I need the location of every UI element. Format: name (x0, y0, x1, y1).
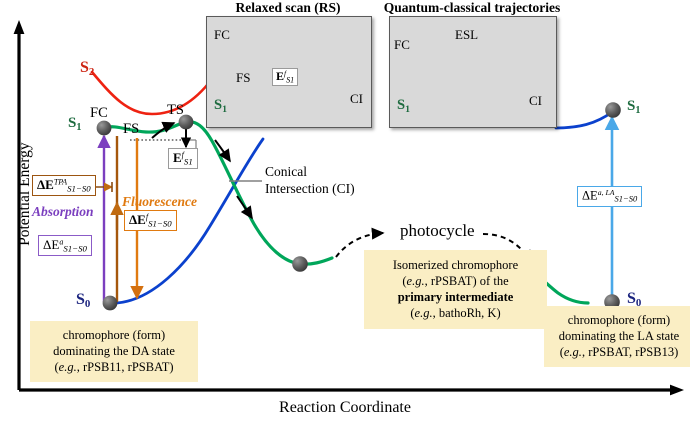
qc-s1-text: S (397, 97, 405, 113)
photocycle-label: photocycle (400, 222, 475, 240)
qc-fc-label: FC (394, 38, 410, 52)
abs-sub: S1−S0 (63, 243, 87, 253)
rs-ets-delta: E (276, 69, 284, 83)
tpa-sup: TPA (54, 178, 67, 187)
s0-curve-right (556, 112, 612, 128)
x-axis-label: Reaction Coordinate (0, 400, 690, 417)
rs-fc-label: FC (214, 28, 230, 42)
conical-intersection-label: Conical Intersection (CI) (265, 164, 355, 198)
fluor-delta: ΔE (129, 212, 146, 227)
s2-label-text: S (80, 59, 89, 76)
s0-right-text: S (627, 290, 636, 307)
da-line-1: chromophore (form) (34, 327, 194, 343)
ci-line1: Conical (265, 164, 355, 181)
pi-line-3: primary intermediate (368, 289, 543, 305)
s1-label-right: S1 (627, 99, 640, 117)
energy-box-fluorescence: ΔEfS1−S0 (124, 210, 177, 231)
la-delta: ΔE (582, 188, 598, 202)
energy-box-la: ΔEa, LAS1−S0 (577, 186, 642, 207)
energy-box-tpa: ΔETPAS1−S0 (32, 175, 96, 196)
rs-fs-label: FS (236, 71, 250, 85)
figure-canvas: Potential Energy Reaction Coordinate S2 … (0, 0, 690, 424)
la-line-2: dominating the LA state (548, 328, 690, 344)
fs-label: FS (123, 122, 139, 137)
ball-s1-right (605, 102, 621, 118)
da-eg: e.g. (59, 360, 77, 374)
fc-label: FC (90, 106, 108, 121)
rs-energy-box-ef-s1: EfS1 (272, 68, 298, 86)
ball-photoproduct (292, 256, 308, 272)
energy-box-absorption: ΔEaS1−S0 (38, 235, 92, 256)
ball-s0-reactant (103, 296, 118, 311)
da-state-box: chromophore (form) dominating the DA sta… (30, 321, 198, 382)
primary-intermediate-box: Isomerized chromophore (e.g., rPSBAT) of… (364, 250, 547, 329)
s2-curve (92, 72, 212, 114)
pi-eg2: e.g. (415, 306, 433, 320)
rs-ci-label: CI (350, 92, 363, 106)
s0-left-text: S (76, 291, 85, 308)
tpa-sub: S1−S0 (67, 183, 91, 193)
s1-label-left: S1 (68, 116, 81, 134)
qc-s1-sub: 1 (405, 104, 410, 115)
ts-label: TS (167, 103, 184, 118)
la-sub: S1−S0 (614, 194, 637, 204)
la-line-1: chromophore (form) (548, 312, 690, 328)
arrow-ci-descent (237, 196, 252, 218)
y-axis-label: Potential Energy (17, 109, 33, 279)
pi-line-1: Isomerized chromophore (368, 257, 543, 273)
la-line-3: (e.g., rPSBAT, rPSB13) (548, 344, 690, 360)
la-state-box: chromophore (form) dominating the LA sta… (544, 306, 690, 367)
s2-label-sub: 2 (89, 66, 94, 78)
abs-delta: ΔE (43, 237, 59, 252)
da-line-2: dominating the DA state (34, 343, 194, 359)
s2-label: S2 (80, 60, 94, 78)
da-line-3: (e.g., rPSB11, rPSBAT) (34, 359, 194, 375)
qc-esl-label: ESL (455, 28, 478, 42)
rs-ets-sub: S1 (286, 75, 294, 84)
rs-s1-sub: 1 (222, 104, 227, 115)
pi-eg: e.g. (407, 274, 425, 288)
qc-s1-label: S1 (397, 98, 410, 115)
rs-s1-text: S (214, 97, 222, 113)
pi-line-4: (e.g., bathoRh, K) (368, 305, 543, 321)
quantum-classical-title: Quantum-classical trajectories (374, 0, 570, 16)
absorption-label: Absorption (32, 205, 94, 219)
la-sup: a, LA (598, 188, 615, 197)
s0-left-sub: 0 (85, 298, 90, 310)
energy-box-ef-s1-main: EfS1 (168, 148, 198, 169)
tpa-delta: ΔE (37, 177, 54, 192)
ets-sub-main: S1 (184, 156, 193, 166)
s1-left-sub: 1 (76, 122, 81, 133)
ets-delta-main: E (173, 150, 182, 165)
da-eg-rest: , rPSB11, rPSBAT (77, 360, 170, 374)
ci-line2: Intersection (CI) (265, 181, 355, 198)
ball-fc (97, 121, 112, 136)
pi-eg-rest: , rPSBAT) of the (425, 274, 509, 288)
s0-label-left: S0 (76, 292, 90, 310)
la-eg-rest: , rPSBAT, rPSB13 (582, 345, 674, 359)
fluorescence-label: Fluorescence (122, 195, 197, 209)
la-eg: e.g. (564, 345, 582, 359)
pi-line-2: (e.g., rPSBAT) of the (368, 273, 543, 289)
pi-eg2-rest: , bathoRh, K (433, 306, 497, 320)
relaxed-scan-title: Relaxed scan (RS) (206, 0, 370, 16)
rs-s1-label: S1 (214, 98, 227, 115)
fluor-sub: S1−S0 (148, 218, 172, 228)
s1-right-sub: 1 (635, 105, 640, 116)
qc-ci-label: CI (529, 94, 542, 108)
